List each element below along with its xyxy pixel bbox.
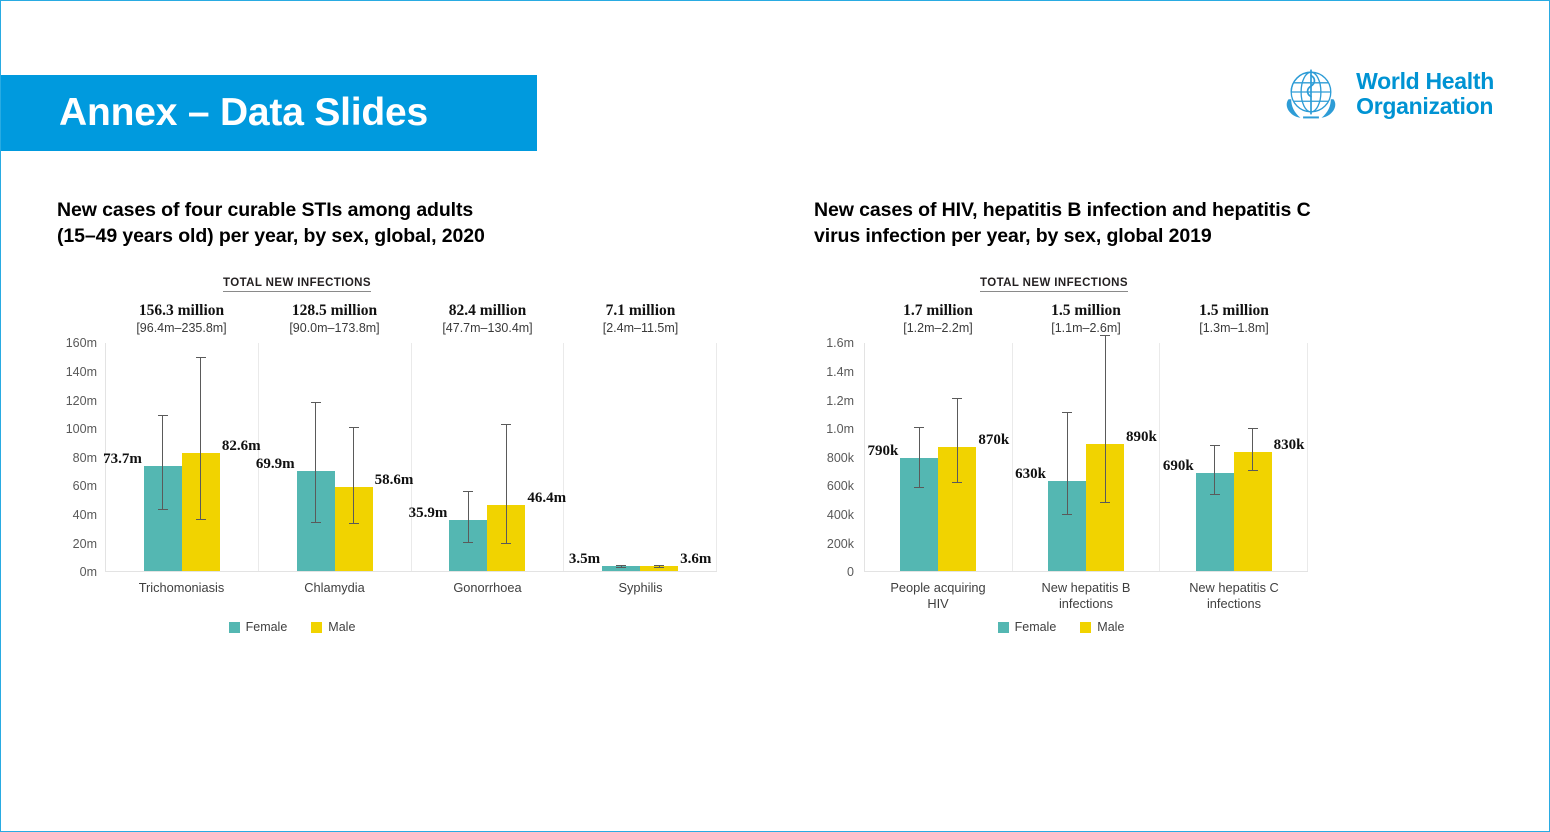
bar-value-label: 82.6m bbox=[222, 438, 261, 455]
error-bar bbox=[353, 427, 354, 524]
total-value: 7.1 million bbox=[564, 302, 717, 320]
total-value: 1.7 million bbox=[864, 302, 1012, 320]
bar-value-label: 890k bbox=[1126, 429, 1157, 446]
who-emblem-icon bbox=[1278, 61, 1344, 127]
x-axis-labels-bbv: People acquiring HIVNew hepatitis B infe… bbox=[864, 572, 1308, 618]
error-bar bbox=[162, 415, 163, 509]
bar-value-label: 830k bbox=[1274, 437, 1305, 454]
chart-title-sti: New cases of four curable STIs among adu… bbox=[57, 197, 717, 249]
bar-value-label: 35.9m bbox=[409, 505, 448, 522]
legend-swatch-male-icon bbox=[311, 622, 322, 633]
legend-sti: Female Male bbox=[57, 620, 717, 634]
y-axis-tick: 140m bbox=[66, 365, 97, 379]
y-axis-bbv: 1.6m1.4m1.2m1.0m800k600k400k200k0 bbox=[814, 343, 860, 572]
total-value: 156.3 million bbox=[105, 302, 258, 320]
legend-item-female: Female bbox=[229, 620, 288, 634]
y-axis-tick: 200k bbox=[827, 537, 854, 551]
x-axis-label: Syphilis bbox=[564, 572, 717, 618]
x-axis-label: People acquiring HIV bbox=[864, 572, 1012, 618]
bar-group: 790k870k bbox=[865, 343, 1013, 571]
bar-value-label: 690k bbox=[1163, 458, 1194, 475]
bar-group: 69.9m58.6m bbox=[259, 343, 412, 571]
bar-group: 35.9m46.4m bbox=[412, 343, 565, 571]
legend-item-male: Male bbox=[311, 620, 355, 634]
y-axis-tick: 600k bbox=[827, 479, 854, 493]
total-cell: 7.1 million[2.4m–11.5m] bbox=[564, 302, 717, 335]
bar-value-label: 46.4m bbox=[527, 490, 566, 507]
total-range: [1.1m–2.6m] bbox=[1012, 321, 1160, 335]
total-value: 1.5 million bbox=[1012, 302, 1160, 320]
x-axis-label: Gonorrhoea bbox=[411, 572, 564, 618]
error-bar bbox=[1067, 412, 1068, 515]
legend-item-male: Male bbox=[1080, 620, 1124, 634]
slide: Annex – Data Slides bbox=[0, 0, 1550, 832]
total-range: [96.4m–235.8m] bbox=[105, 321, 258, 335]
bar-female[interactable]: 69.9m bbox=[297, 471, 335, 571]
error-bar bbox=[659, 565, 660, 568]
bar-male[interactable]: 870k bbox=[938, 447, 976, 572]
x-axis-label: Chlamydia bbox=[258, 572, 411, 618]
y-axis-tick: 60m bbox=[73, 479, 97, 493]
total-range: [1.2m–2.2m] bbox=[864, 321, 1012, 335]
error-bar bbox=[957, 398, 958, 482]
error-bar bbox=[315, 402, 316, 522]
error-bar bbox=[468, 491, 469, 543]
who-wordmark: World Health Organization bbox=[1356, 69, 1494, 118]
chart-panel-sti: New cases of four curable STIs among adu… bbox=[57, 197, 717, 634]
y-axis-tick: 0 bbox=[847, 565, 854, 579]
chart-bbv: 1.6m1.4m1.2m1.0m800k600k400k200k0 790k87… bbox=[814, 343, 1454, 618]
bar-value-label: 69.9m bbox=[256, 456, 295, 473]
who-logo: World Health Organization bbox=[1278, 61, 1494, 127]
slide-title-band: Annex – Data Slides bbox=[1, 75, 537, 151]
error-bar bbox=[621, 565, 622, 568]
totals-header-label: TOTAL NEW INFECTIONS bbox=[223, 277, 371, 292]
bar-female[interactable]: 690k bbox=[1196, 473, 1234, 572]
bar-male[interactable]: 46.4m bbox=[487, 505, 525, 571]
bar-value-label: 630k bbox=[1015, 466, 1046, 483]
bar-value-label: 73.7m bbox=[103, 451, 142, 468]
error-bar bbox=[919, 427, 920, 489]
legend-label-female: Female bbox=[1015, 620, 1057, 634]
totals-header-label: TOTAL NEW INFECTIONS bbox=[980, 277, 1128, 292]
bar-group: 690k830k bbox=[1160, 343, 1308, 571]
y-axis-tick: 1.2m bbox=[826, 394, 854, 408]
totals-header-bbv: TOTAL NEW INFECTIONS bbox=[814, 273, 1454, 292]
bar-value-label: 58.6m bbox=[375, 472, 414, 489]
plot-area-sti: 73.7m82.6m69.9m58.6m35.9m46.4m3.5m3.6m bbox=[105, 343, 717, 572]
total-range: [2.4m–11.5m] bbox=[564, 321, 717, 335]
chart-sti: 160m140m120m100m80m60m40m20m0m 73.7m82.6… bbox=[57, 343, 717, 618]
y-axis-tick: 120m bbox=[66, 394, 97, 408]
totals-row-sti: 156.3 million[96.4m–235.8m]128.5 million… bbox=[57, 302, 717, 335]
y-axis-tick: 400k bbox=[827, 508, 854, 522]
total-cell: 1.5 million[1.1m–2.6m] bbox=[1012, 302, 1160, 335]
x-axis-labels-sti: TrichomoniasisChlamydiaGonorrhoeaSyphili… bbox=[105, 572, 717, 618]
error-bar bbox=[1252, 428, 1253, 471]
legend-label-male: Male bbox=[1097, 620, 1124, 634]
total-value: 1.5 million bbox=[1160, 302, 1308, 320]
legend-label-female: Female bbox=[246, 620, 288, 634]
y-axis-tick: 20m bbox=[73, 537, 97, 551]
chart-panel-bbv: New cases of HIV, hepatitis B infection … bbox=[814, 197, 1454, 634]
bar-male[interactable]: 3.6m bbox=[640, 566, 678, 571]
bar-female[interactable]: 35.9m bbox=[449, 520, 487, 571]
total-value: 128.5 million bbox=[258, 302, 411, 320]
x-axis-label: New hepatitis B infections bbox=[1012, 572, 1160, 618]
y-axis-sti: 160m140m120m100m80m60m40m20m0m bbox=[57, 343, 103, 572]
total-range: [47.7m–130.4m] bbox=[411, 321, 564, 335]
total-cell: 1.5 million[1.3m–1.8m] bbox=[1160, 302, 1308, 335]
legend-label-male: Male bbox=[328, 620, 355, 634]
total-range: [90.0m–173.8m] bbox=[258, 321, 411, 335]
x-axis-label: New hepatitis C infections bbox=[1160, 572, 1308, 618]
bar-value-label: 870k bbox=[978, 432, 1009, 449]
bar-female[interactable]: 3.5m bbox=[602, 566, 640, 571]
y-axis-tick: 100m bbox=[66, 422, 97, 436]
bar-group: 73.7m82.6m bbox=[106, 343, 259, 571]
y-axis-tick: 0m bbox=[80, 565, 97, 579]
y-axis-tick: 800k bbox=[827, 451, 854, 465]
x-axis-label: Trichomoniasis bbox=[105, 572, 258, 618]
bar-male[interactable]: 890k bbox=[1086, 444, 1124, 571]
bar-male[interactable]: 82.6m bbox=[182, 453, 220, 571]
legend-swatch-female-icon bbox=[229, 622, 240, 633]
y-axis-tick: 40m bbox=[73, 508, 97, 522]
total-value: 82.4 million bbox=[411, 302, 564, 320]
bar-female[interactable]: 630k bbox=[1048, 481, 1086, 571]
legend-item-female: Female bbox=[998, 620, 1057, 634]
legend-bbv: Female Male bbox=[814, 620, 1454, 634]
error-bar bbox=[1214, 445, 1215, 495]
bar-male[interactable]: 58.6m bbox=[335, 487, 373, 571]
bar-value-label: 3.5m bbox=[569, 551, 600, 568]
total-range: [1.3m–1.8m] bbox=[1160, 321, 1308, 335]
bar-male[interactable]: 830k bbox=[1234, 452, 1272, 571]
legend-swatch-female-icon bbox=[998, 622, 1009, 633]
bar-group: 3.5m3.6m bbox=[564, 343, 717, 571]
total-cell: 1.7 million[1.2m–2.2m] bbox=[864, 302, 1012, 335]
chart-title-bbv: New cases of HIV, hepatitis B infection … bbox=[814, 197, 1454, 249]
y-axis-tick: 160m bbox=[66, 336, 97, 350]
error-bar bbox=[200, 357, 201, 520]
legend-swatch-male-icon bbox=[1080, 622, 1091, 633]
total-cell: 156.3 million[96.4m–235.8m] bbox=[105, 302, 258, 335]
page-title: Annex – Data Slides bbox=[1, 91, 428, 135]
totals-row-bbv: 1.7 million[1.2m–2.2m]1.5 million[1.1m–2… bbox=[814, 302, 1454, 335]
bar-value-label: 790k bbox=[867, 443, 898, 460]
bar-female[interactable]: 73.7m bbox=[144, 466, 182, 571]
bar-group: 630k890k bbox=[1013, 343, 1161, 571]
y-axis-tick: 1.4m bbox=[826, 365, 854, 379]
who-wordmark-line1: World Health bbox=[1356, 68, 1494, 94]
who-wordmark-line2: Organization bbox=[1356, 93, 1493, 119]
error-bar bbox=[1105, 335, 1106, 502]
total-cell: 128.5 million[90.0m–173.8m] bbox=[258, 302, 411, 335]
y-axis-tick: 80m bbox=[73, 451, 97, 465]
totals-header-sti: TOTAL NEW INFECTIONS bbox=[57, 273, 717, 292]
plot-area-bbv: 790k870k630k890k690k830k bbox=[864, 343, 1308, 572]
error-bar bbox=[506, 424, 507, 544]
bar-female[interactable]: 790k bbox=[900, 458, 938, 571]
total-cell: 82.4 million[47.7m–130.4m] bbox=[411, 302, 564, 335]
y-axis-tick: 1.6m bbox=[826, 336, 854, 350]
y-axis-tick: 1.0m bbox=[826, 422, 854, 436]
bar-value-label: 3.6m bbox=[680, 551, 711, 568]
